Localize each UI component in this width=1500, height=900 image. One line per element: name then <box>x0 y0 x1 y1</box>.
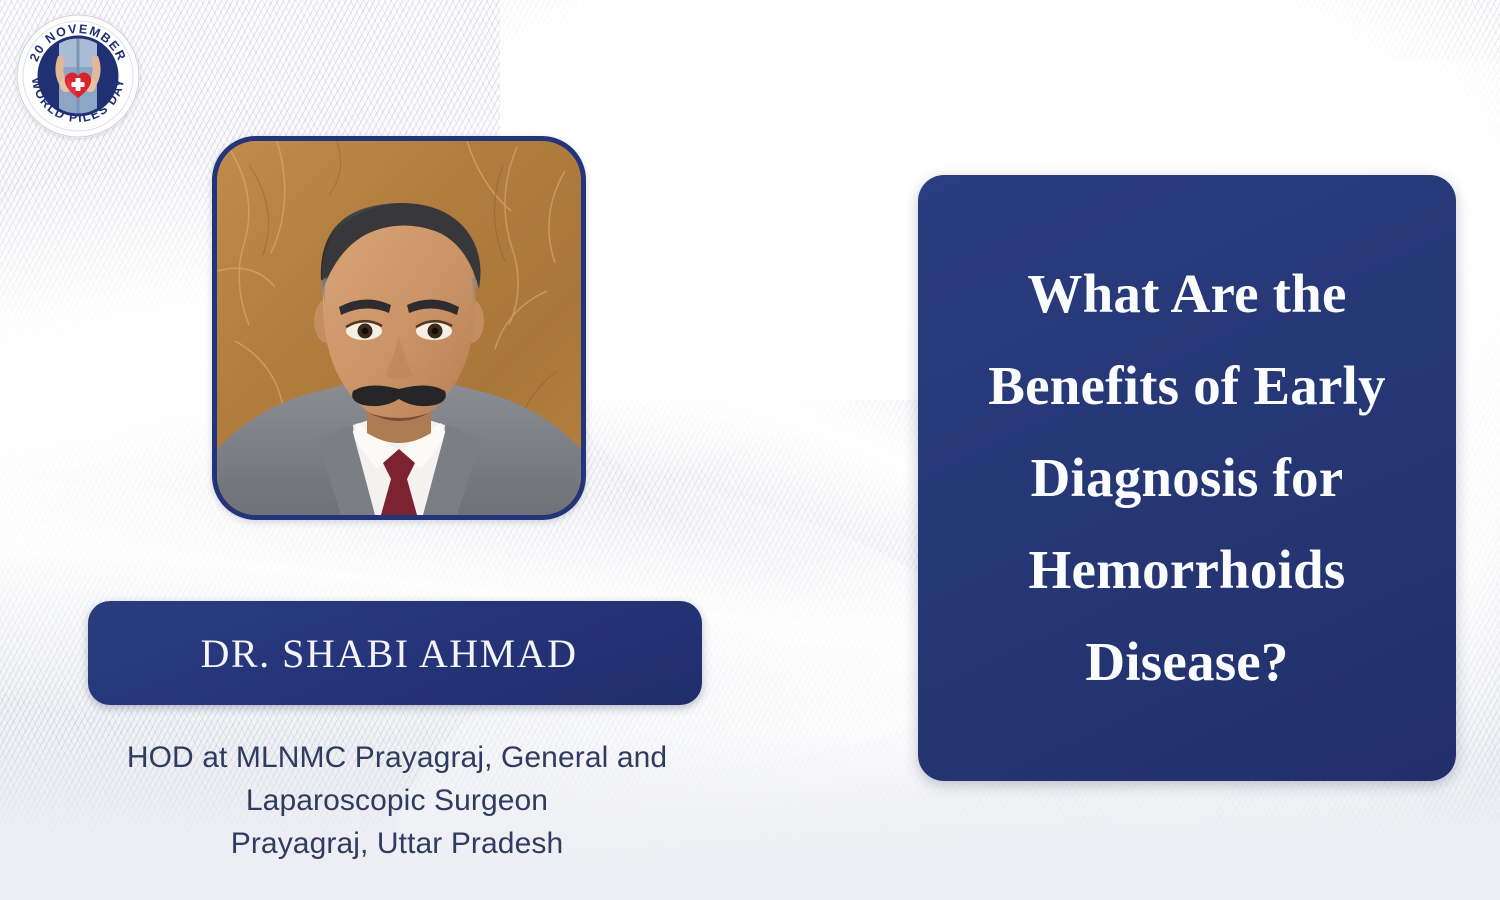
title-line-4: Hemorrhoids <box>988 524 1386 616</box>
title-line-5: Disease? <box>988 616 1386 708</box>
credential-line-2: Laparoscopic Surgeon <box>60 779 734 822</box>
speaker-credentials: HOD at MLNMC Prayagraj, General and Lapa… <box>60 736 734 865</box>
world-piles-day-logo: 20 NOVEMBER WORLD PILES DAY <box>16 14 140 138</box>
title-line-1: What Are the <box>988 248 1386 340</box>
page-title: What Are the Benefits of Early Diagnosis… <box>988 248 1386 708</box>
credential-line-1: HOD at MLNMC Prayagraj, General and <box>60 736 734 779</box>
topic-title-card: What Are the Benefits of Early Diagnosis… <box>918 175 1456 781</box>
title-line-2: Benefits of Early <box>988 340 1386 432</box>
speaker-name-banner: DR. SHABI AHMAD <box>88 601 702 705</box>
speaker-portrait-photo <box>212 136 586 520</box>
credential-line-3: Prayagraj, Uttar Pradesh <box>60 822 734 865</box>
presentation-slide: 20 NOVEMBER WORLD PILES DAY <box>0 0 1500 900</box>
speaker-name-label: DR. SHABI AHMAD <box>201 630 578 677</box>
title-line-3: Diagnosis for <box>988 432 1386 524</box>
portrait-image <box>217 141 581 515</box>
